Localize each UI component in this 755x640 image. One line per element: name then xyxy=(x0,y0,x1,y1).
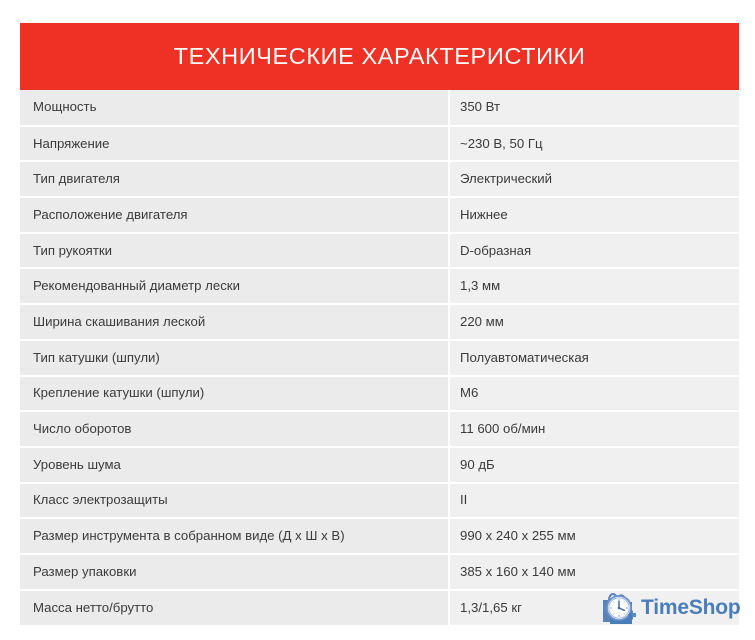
spec-label: Уровень шума xyxy=(20,447,449,483)
table-row: Размер инструмента в собранном виде (Д x… xyxy=(20,518,739,554)
spec-value: 90 дБ xyxy=(449,447,739,483)
table-row: Уровень шума90 дБ xyxy=(20,447,739,483)
logo-text: TimeShop xyxy=(641,596,741,620)
spec-label: Тип двигателя xyxy=(20,161,449,197)
timeshop-logo[interactable]: TimeShop xyxy=(598,584,743,632)
spec-value: 11 600 об/мин xyxy=(449,411,739,447)
spec-value: Электрический xyxy=(449,161,739,197)
shopping-bag-clock-icon xyxy=(598,586,642,630)
table-row: Крепление катушки (шпули)M6 xyxy=(20,376,739,412)
page-title: ТЕХНИЧЕСКИЕ ХАРАКТЕРИСТИКИ xyxy=(174,45,586,69)
spec-value: 1,3 мм xyxy=(449,268,739,304)
spec-value: 220 мм xyxy=(449,304,739,340)
spec-value: Нижнее xyxy=(449,197,739,233)
spec-label: Число оборотов xyxy=(20,411,449,447)
spec-sheet: ТЕХНИЧЕСКИЕ ХАРАКТЕРИСТИКИ Мощность350 В… xyxy=(20,23,739,625)
table-row: Напряжение~230 В, 50 Гц xyxy=(20,126,739,162)
spec-label: Размер инструмента в собранном виде (Д x… xyxy=(20,518,449,554)
spec-label: Масса нетто/брутто xyxy=(20,590,449,626)
spec-value: Полуавтоматическая xyxy=(449,340,739,376)
spec-value: 350 Вт xyxy=(449,90,739,126)
table-row: Тип рукояткиD-образная xyxy=(20,233,739,269)
table-row: Число оборотов11 600 об/мин xyxy=(20,411,739,447)
table-row: Мощность350 Вт xyxy=(20,90,739,126)
spec-header-banner: ТЕХНИЧЕСКИЕ ХАРАКТЕРИСТИКИ xyxy=(20,23,739,90)
specifications-table: Мощность350 ВтНапряжение~230 В, 50 ГцТип… xyxy=(20,90,739,625)
spec-value: D-образная xyxy=(449,233,739,269)
spec-label: Расположение двигателя xyxy=(20,197,449,233)
spec-label: Тип рукоятки xyxy=(20,233,449,269)
spec-value: 990 x 240 x 255 мм xyxy=(449,518,739,554)
table-row: Класс электрозащитыII xyxy=(20,483,739,519)
table-row: Расположение двигателяНижнее xyxy=(20,197,739,233)
spec-label: Размер упаковки xyxy=(20,554,449,590)
spec-label: Рекомендованный диаметр лески xyxy=(20,268,449,304)
spec-value: ~230 В, 50 Гц xyxy=(449,126,739,162)
specifications-table-body: Мощность350 ВтНапряжение~230 В, 50 ГцТип… xyxy=(20,90,739,625)
spec-label: Крепление катушки (шпули) xyxy=(20,376,449,412)
table-row: Тип катушки (шпули)Полуавтоматическая xyxy=(20,340,739,376)
spec-label: Ширина скашивания леской xyxy=(20,304,449,340)
table-row: Тип двигателяЭлектрический xyxy=(20,161,739,197)
table-row: Рекомендованный диаметр лески1,3 мм xyxy=(20,268,739,304)
spec-label: Тип катушки (шпули) xyxy=(20,340,449,376)
spec-value: II xyxy=(449,483,739,519)
table-row: Ширина скашивания леской220 мм xyxy=(20,304,739,340)
spec-value: M6 xyxy=(449,376,739,412)
spec-label: Напряжение xyxy=(20,126,449,162)
spec-label: Мощность xyxy=(20,90,449,126)
spec-label: Класс электрозащиты xyxy=(20,483,449,519)
